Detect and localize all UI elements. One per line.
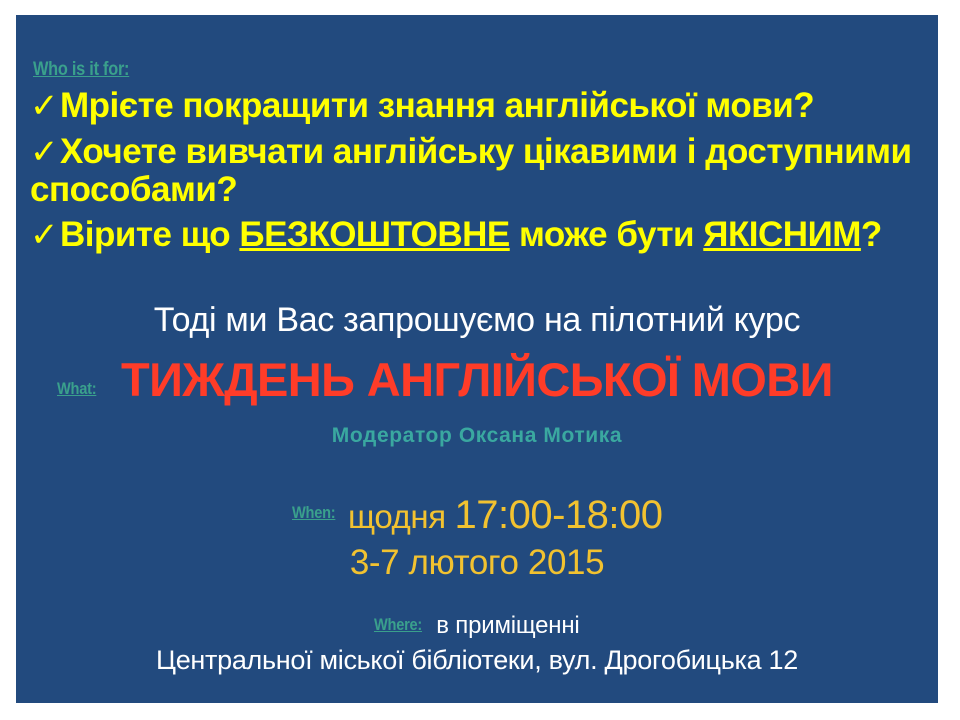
who-is-it-for-label: Who is it for:: [33, 59, 129, 81]
check-icon: ✓: [30, 216, 58, 254]
bullet-text: Хочете вивчати англійську цікавими і дос…: [30, 132, 912, 209]
list-item: ✓Хочете вивчати англійську цікавими і до…: [30, 133, 930, 209]
when-frequency: щодня: [348, 498, 455, 535]
where-address: Центральної міської бібліотеки, вул. Дро…: [16, 645, 938, 676]
when-label: When:: [292, 503, 335, 523]
bullet-list: ✓Мрієте покращити знання англійської мов…: [30, 87, 930, 254]
what-row: What: ТИЖДЕНЬ АНГЛІЙСЬКОЇ МОВИ: [16, 355, 938, 411]
check-icon: ✓: [30, 133, 58, 171]
bullet-text: Мрієте покращити знання англійської мови…: [60, 86, 814, 125]
when-date: 3-7 лютого 2015: [16, 543, 938, 583]
bullet-text-emphasis-quality: ЯКІСНИМ: [703, 215, 861, 254]
check-icon: ✓: [30, 87, 58, 125]
where-row: Where: в приміщенні: [16, 612, 938, 640]
invitation-line: Тоді ми Вас запрошуємо на пілотний курс: [16, 301, 938, 340]
where-venue: в приміщенні: [436, 612, 579, 639]
slide-canvas: Who is it for: ✓Мрієте покращити знання …: [0, 0, 960, 720]
page-title: ТИЖДЕНЬ АНГЛІЙСЬКОЇ МОВИ: [121, 355, 921, 404]
bullet-text-plain: Вірите що: [60, 215, 239, 254]
list-item: ✓Вірите що БЕЗКОШТОВНЕ може бути ЯКІСНИМ…: [30, 216, 930, 254]
where-label: Where:: [374, 615, 422, 635]
when-time: 17:00-18:00: [454, 493, 662, 537]
bullet-text-plain: ?: [861, 215, 882, 254]
list-item: ✓Мрієте покращити знання англійської мов…: [30, 87, 930, 125]
bullet-text-plain: може бути: [510, 215, 704, 254]
who-is-it-for-row: Who is it for:: [33, 59, 145, 83]
slide-panel: Who is it for: ✓Мрієте покращити знання …: [16, 15, 938, 703]
moderator-line: Модератор Оксана Мотика: [16, 424, 938, 448]
bullet-text-emphasis-free: БЕЗКОШТОВНЕ: [239, 215, 509, 254]
when-row: When:щодня 17:00-18:00: [16, 493, 938, 538]
what-label: What:: [57, 379, 96, 399]
